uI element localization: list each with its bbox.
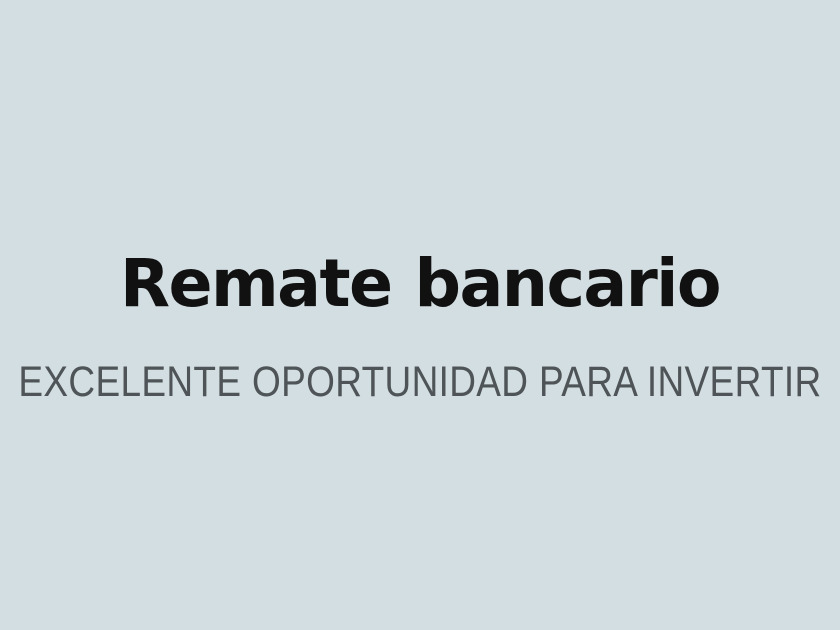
subheadline: EXCELENTE OPORTUNIDAD PARA INVERTIR <box>18 358 821 406</box>
subheadline-container: EXCELENTE OPORTUNIDAD PARA INVERTIR <box>0 358 840 406</box>
headline: Remate bancario <box>6 248 833 320</box>
promo-banner: Remate bancario EXCELENTE OPORTUNIDAD PA… <box>0 0 840 630</box>
